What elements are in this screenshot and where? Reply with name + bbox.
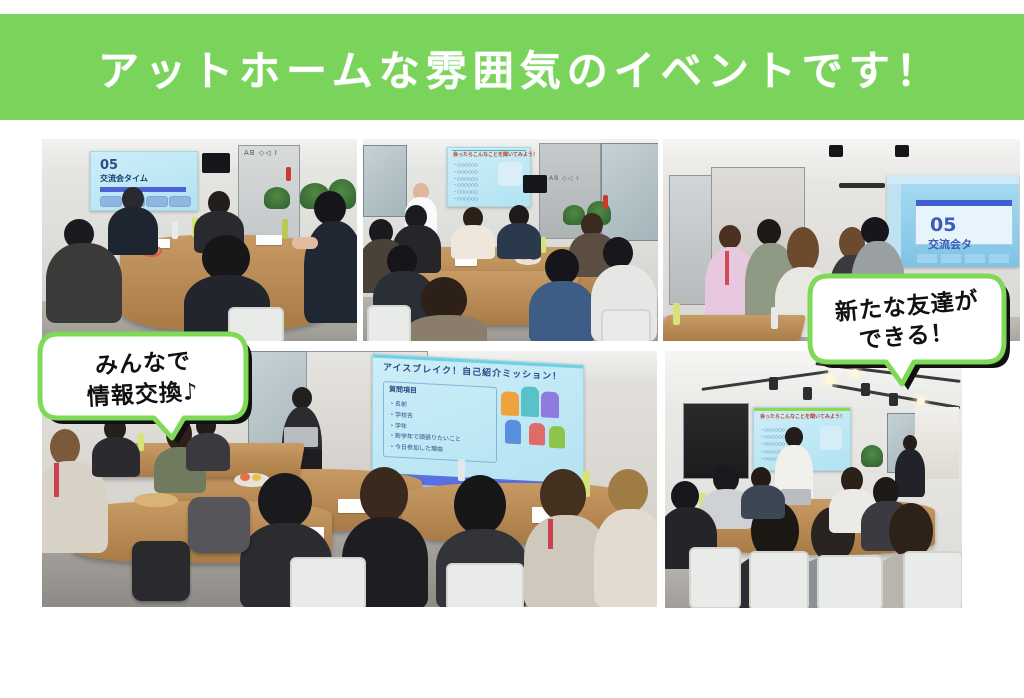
spotlight bbox=[769, 377, 778, 390]
slide-bullets: ・名前 ・学校名 ・学年 ・新学年で頑張りたいこと ・今日参加した理由 bbox=[389, 399, 461, 457]
bottle bbox=[771, 307, 778, 329]
projection-screen: 会ったらこんなことを聞いてみよう！ ・○○○○○○・○○○○○○・○○○○○○・… bbox=[447, 147, 531, 207]
slide-section: 質問項目 bbox=[389, 385, 417, 395]
bottle bbox=[458, 459, 465, 481]
ceiling-speaker bbox=[895, 145, 909, 157]
slide-thumb bbox=[146, 196, 168, 207]
spotlight bbox=[889, 393, 898, 406]
gallery-photo-top-center[interactable]: 会ったらこんなことを聞いてみよう！ ・○○○○○○・○○○○○○・○○○○○○・… bbox=[363, 139, 658, 341]
snack-tray bbox=[134, 493, 178, 507]
wall-monitor bbox=[523, 175, 547, 193]
speech-bubble-left: みんなで 情報交換♪ bbox=[32, 328, 254, 440]
speech-bubble-right: 新たな友達が できる！ bbox=[802, 270, 1012, 388]
photo-scene: 05 交流会タイム AB ◇◁ I bbox=[42, 139, 357, 341]
chair bbox=[367, 305, 411, 341]
ceiling-rail bbox=[839, 183, 885, 188]
header-banner: アットホームな雰囲気のイベントです！ bbox=[0, 14, 1024, 120]
glass-partition bbox=[363, 145, 407, 217]
projection-screen: 05 交流会タイム bbox=[90, 151, 198, 211]
gallery-photo-top-left[interactable]: 05 交流会タイム AB ◇◁ I bbox=[42, 139, 357, 341]
chair bbox=[188, 497, 250, 553]
shelf bbox=[683, 403, 749, 479]
slide-thumb bbox=[989, 254, 1009, 263]
photo-scene: 会ったらこんなことを聞いてみよう！ ・○○○○○○・○○○○○○・○○○○○○・… bbox=[363, 139, 658, 341]
slide-rule bbox=[754, 408, 850, 411]
slide-thumb bbox=[941, 254, 961, 263]
slide-thumb bbox=[965, 254, 985, 263]
laptop bbox=[781, 489, 811, 505]
chair bbox=[446, 563, 524, 607]
wall-monitor bbox=[202, 153, 230, 173]
chair bbox=[903, 551, 962, 608]
slide-accent-bar bbox=[100, 187, 186, 192]
glass-partition bbox=[601, 143, 658, 241]
chair bbox=[817, 555, 883, 608]
ceiling-light bbox=[917, 397, 925, 405]
slide-number: 05 bbox=[100, 158, 118, 174]
chair bbox=[689, 547, 741, 608]
food bbox=[252, 474, 261, 481]
poster-canvas: アットホームな雰囲気のイベントです！ 05 交流会タイム AB ◇◁ I bbox=[0, 0, 1024, 698]
slide-title: 交流会タイム bbox=[100, 174, 148, 184]
slide-thumb bbox=[169, 196, 191, 207]
bottle bbox=[673, 303, 680, 325]
chair bbox=[601, 309, 651, 341]
bubble-shape bbox=[802, 270, 1012, 388]
plant bbox=[861, 445, 883, 467]
chair bbox=[290, 557, 366, 607]
bottle bbox=[541, 237, 546, 253]
bottle bbox=[282, 219, 288, 239]
slide-thumb bbox=[917, 254, 937, 263]
bubble-shape bbox=[32, 328, 254, 440]
slide-thumb bbox=[100, 196, 122, 207]
plant bbox=[264, 187, 290, 209]
slide-rule bbox=[452, 150, 526, 151]
photo-scene: 会ったらこんなことを聞いてみよう！ ・○○○○○○・○○○○○○・○○○○○○・… bbox=[665, 351, 962, 608]
fire-extinguisher bbox=[286, 167, 291, 181]
slide-illustration bbox=[498, 162, 522, 186]
wall-sign: AB ◇◁ I bbox=[244, 149, 278, 158]
slide-title: 交流会タ bbox=[928, 238, 972, 252]
slide-title: 会ったらこんなことを聞いてみよう！ bbox=[760, 414, 845, 420]
chair bbox=[749, 551, 809, 608]
slide-number: 05 bbox=[930, 214, 956, 238]
bottle bbox=[172, 221, 178, 239]
page-title: アットホームな雰囲気のイベントです！ bbox=[98, 37, 943, 97]
spotlight bbox=[803, 387, 812, 400]
food bbox=[240, 473, 250, 481]
slide-title: 会ったらこんなことを聞いてみよう！ bbox=[453, 152, 538, 158]
table bbox=[663, 315, 806, 341]
paper bbox=[256, 235, 282, 245]
fire-extinguisher bbox=[603, 195, 608, 209]
chair bbox=[132, 541, 190, 601]
gallery-photo-bottom-right[interactable]: 会ったらこんなことを聞いてみよう！ ・○○○○○○・○○○○○○・○○○○○○・… bbox=[665, 351, 962, 608]
slide-frame: 05 交流会タ bbox=[915, 199, 1013, 245]
presentation-monitor: 05 交流会タ bbox=[887, 175, 1019, 267]
browser-chrome bbox=[887, 175, 1019, 184]
ceiling-speaker bbox=[829, 145, 843, 157]
